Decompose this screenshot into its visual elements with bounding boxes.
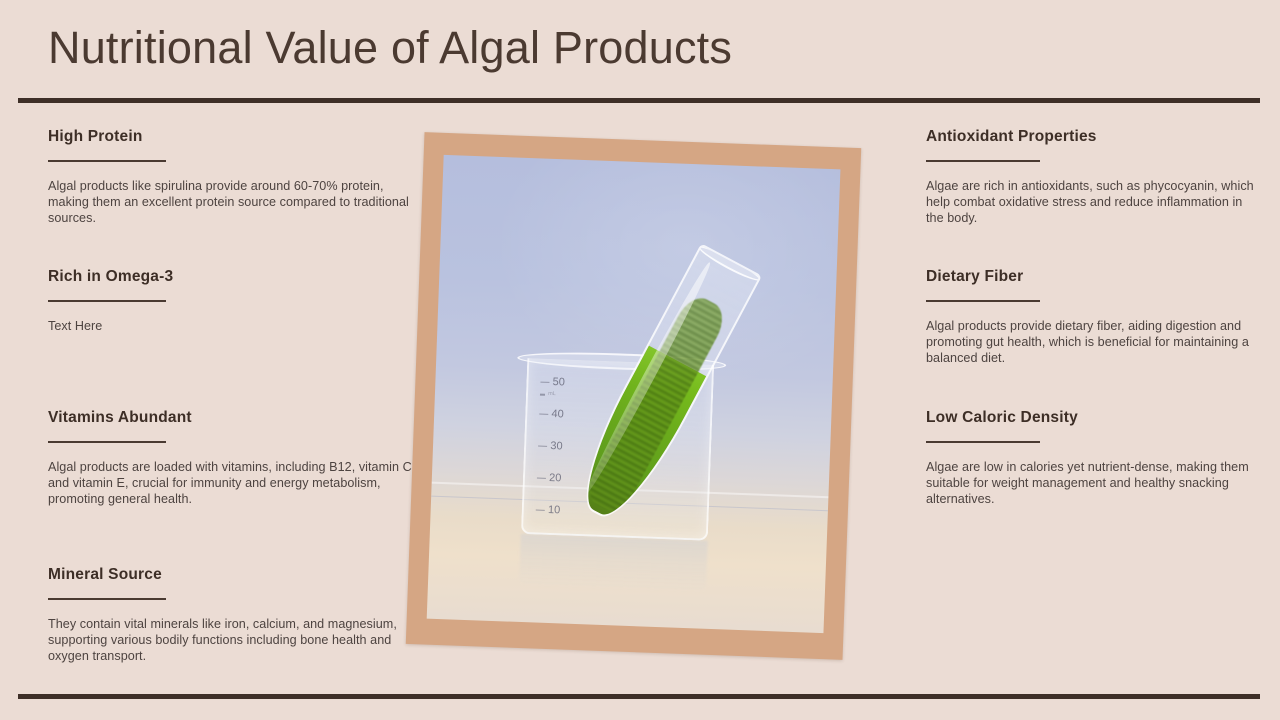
graduation-tick-icon (537, 477, 546, 479)
feature-block-low-caloric-density: Low Caloric Density Algae are low in cal… (926, 409, 1256, 508)
page-title: Nutritional Value of Algal Products (48, 22, 732, 74)
feature-block-high-protein: High Protein Algal products like spiruli… (48, 128, 418, 227)
feature-block-vitamins-abundant: Vitamins Abundant Algal products are loa… (48, 409, 418, 508)
heading-underline (48, 598, 166, 600)
photo-figure: 50 mL 40 30 20 (415, 140, 855, 660)
graduation-mark: 30 (538, 441, 594, 454)
heading-underline (48, 441, 166, 443)
divider-top (18, 98, 1260, 103)
feature-body: Algal products provide dietary fiber, ai… (926, 318, 1256, 367)
feature-body: Algae are rich in antioxidants, such as … (926, 178, 1256, 227)
graduation-sub-label-row: mL (540, 392, 596, 400)
feature-body: Text Here (48, 318, 418, 334)
graduation-label: 30 (550, 441, 563, 452)
feature-body: Algal products are loaded with vitamins,… (48, 459, 418, 508)
feature-block-antioxidant-properties: Antioxidant Properties Algae are rich in… (926, 128, 1256, 227)
graduation-tick-icon (539, 413, 548, 415)
feature-block-dietary-fiber: Dietary Fiber Algal products provide die… (926, 268, 1256, 367)
feature-body: They contain vital minerals like iron, c… (48, 616, 418, 665)
graduation-tick-icon (538, 445, 547, 447)
feature-body: Algal products like spirulina provide ar… (48, 178, 418, 227)
graduation-label: 10 (548, 505, 561, 516)
feature-heading: Rich in Omega-3 (48, 268, 418, 287)
feature-block-mineral-source: Mineral Source They contain vital minera… (48, 566, 418, 665)
graduation-mark: 50 (540, 377, 596, 390)
photo-frame: 50 mL 40 30 20 (406, 132, 861, 660)
graduation-label: 20 (549, 473, 562, 484)
feature-block-rich-in-omega-3: Rich in Omega-3 Text Here (48, 268, 418, 334)
feature-heading: Antioxidant Properties (926, 128, 1256, 147)
feature-heading: Vitamins Abundant (48, 409, 418, 428)
heading-underline (926, 160, 1040, 162)
graduation-mark: 40 (539, 409, 595, 422)
graduation-tick-icon (540, 394, 545, 396)
beaker-reflection (519, 534, 707, 592)
feature-heading: Low Caloric Density (926, 409, 1256, 428)
feature-heading: Mineral Source (48, 566, 418, 585)
graduation-tick-icon (541, 381, 550, 383)
graduation-tick-icon (536, 509, 545, 511)
heading-underline (48, 300, 166, 302)
graduation-label: 40 (551, 409, 564, 420)
graduation-unit-label: mL (548, 392, 555, 398)
heading-underline (926, 441, 1040, 443)
feature-heading: Dietary Fiber (926, 268, 1256, 287)
heading-underline (926, 300, 1040, 302)
algae-beaker-photo: 50 mL 40 30 20 (427, 155, 841, 633)
feature-heading: High Protein (48, 128, 418, 147)
graduation-mark: 10 (536, 505, 592, 518)
divider-bottom (18, 694, 1260, 699)
feature-body: Algae are low in calories yet nutrient-d… (926, 459, 1256, 508)
heading-underline (48, 160, 166, 162)
graduation-label: 50 (552, 377, 565, 388)
